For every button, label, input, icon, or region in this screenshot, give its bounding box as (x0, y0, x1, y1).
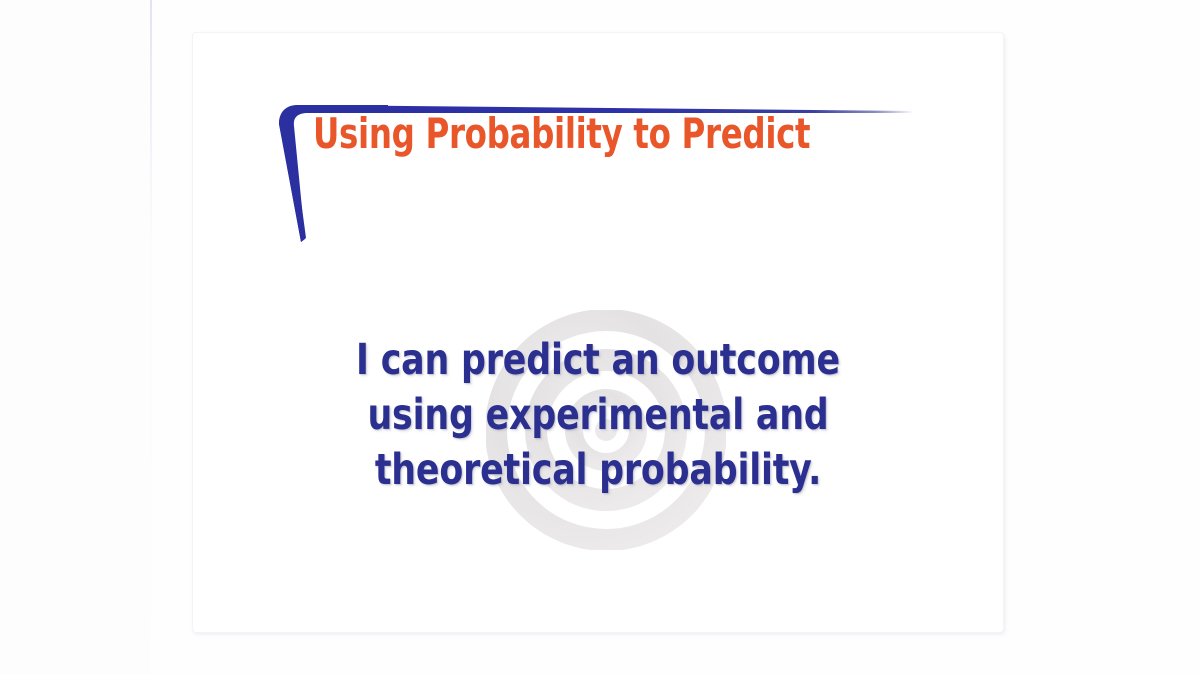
objective-line-2: using experimental and (288, 388, 909, 443)
slide-title: Using Probability to Predict (313, 113, 810, 155)
objective-text: I can predict an outcome using experimen… (253, 333, 943, 498)
slide-card[interactable]: Using Probability to Predict I can predi… (193, 33, 1003, 632)
left-rail-panel (0, 0, 150, 674)
presentation-viewer: Using Probability to Predict I can predi… (0, 0, 1200, 674)
objective-line-3: theoretical probability. (288, 443, 909, 498)
objective-line-1: I can predict an outcome (288, 333, 909, 388)
left-rail-divider (150, 0, 152, 674)
